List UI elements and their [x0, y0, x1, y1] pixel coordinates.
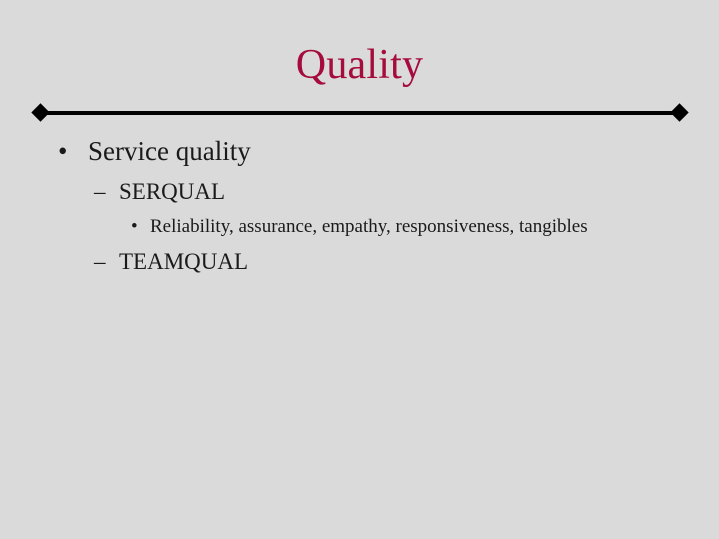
bullet-dot-icon: • — [58, 134, 82, 168]
divider-line — [43, 111, 677, 115]
outline-item-level-2: – SERQUAL — [0, 177, 719, 207]
outline-item-label: Service quality — [88, 136, 251, 166]
outline-item-level-1: • Service quality — [0, 134, 719, 168]
diamond-cap-right-icon — [670, 103, 688, 121]
outline-item-label: Reliability, assurance, empathy, respons… — [150, 216, 588, 237]
bullet-dash-icon: – — [94, 177, 118, 207]
slide-canvas: Quality • Service quality – SERQUAL • Re… — [0, 0, 719, 539]
bullet-dot-small-icon: • — [131, 213, 149, 240]
bullet-dash-icon: – — [94, 247, 118, 277]
page-title: Quality — [296, 42, 423, 88]
outline-item-label: SERQUAL — [119, 179, 225, 204]
title-block: Quality — [0, 42, 719, 88]
outline-item-level-3: • Reliability, assurance, empathy, respo… — [0, 213, 719, 240]
title-divider — [34, 104, 686, 122]
outline-item-label: TEAMQUAL — [119, 249, 248, 274]
outline-item-level-2: – TEAMQUAL — [0, 247, 719, 277]
body-outline: • Service quality – SERQUAL • Reliabilit… — [0, 134, 719, 283]
